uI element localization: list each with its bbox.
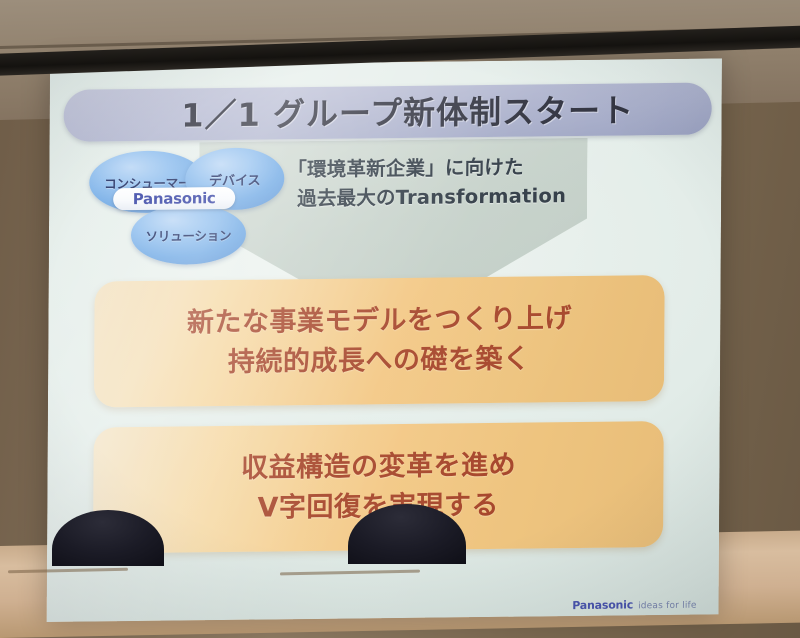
headline-line-1: 「環境革新企業」に向けた — [287, 151, 667, 185]
slide-title: 1／1 グループ新体制スタート — [64, 85, 712, 138]
oval-solution-label: ソリューション — [145, 224, 231, 244]
panasonic-logo-badge: Panasonic — [113, 187, 235, 210]
oval-device-label: デバイス — [209, 169, 261, 189]
slide-footer-brand: Panasonic ideas for life — [572, 598, 697, 612]
footer-panasonic-text: Panasonic — [572, 598, 633, 612]
message-box-1-line-1: 新たな事業モデルをつくり上げ — [187, 299, 572, 343]
footer-tagline-text: ideas for life — [638, 601, 697, 612]
business-domain-diagram: コンシューマー デバイス ソリューション Panasonic — [89, 147, 290, 271]
slide-headline: 「環境革新企業」に向けた 過去最大のTransformation — [287, 151, 667, 214]
oval-solution: ソリューション — [131, 204, 246, 265]
message-box-business-model: 新たな事業モデルをつくり上げ 持続的成長への礎を築く — [94, 275, 665, 407]
message-box-1-line-2: 持続的成長への礎を築く — [228, 340, 531, 383]
panasonic-logo-text: Panasonic — [133, 189, 216, 208]
headline-line-2: 過去最大のTransformation — [287, 180, 667, 214]
photo-scene: 1／1 グループ新体制スタート コンシューマー デバイス ソリューション Pan… — [0, 0, 800, 638]
slide-title-bar: 1／1 グループ新体制スタート — [64, 82, 712, 141]
message-box-2-line-1: 収益構造の変革を進め — [241, 446, 516, 489]
